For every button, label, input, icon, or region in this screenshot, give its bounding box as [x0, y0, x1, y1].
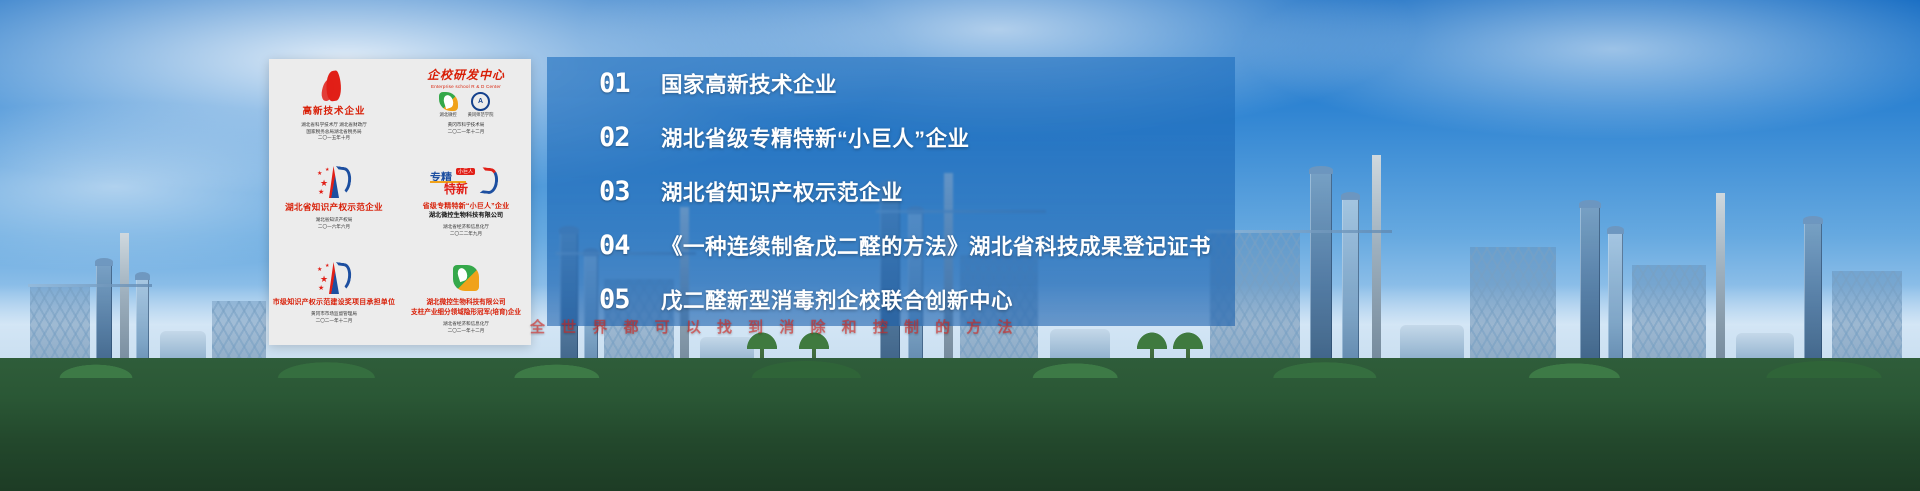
achievement-label: 湖北省级专精特新“小巨人”企业: [661, 122, 970, 153]
certificate-footer: 湖北省知识产权局 二〇一六年六月: [316, 217, 353, 230]
leaf-icon: [439, 92, 458, 111]
certificate-issuer-line: 湖北省经济和信息化厅: [443, 321, 489, 328]
certificate-grid: 高新技术企业 湖北省科学技术厅 湖北省财政厅 国家税务总局湖北省税务局 二〇一五…: [269, 59, 531, 345]
certificate-date: 二〇一六年六月: [316, 224, 353, 231]
promo-banner: 高新技术企业 湖北省科学技术厅 湖北省财政厅 国家税务总局湖北省税务局 二〇一五…: [0, 0, 1920, 491]
leaf-icon: [453, 258, 479, 298]
certificate-card[interactable]: ★★ ★★ 湖北省知识产权示范企业 湖北省知识产权局 二〇一六年六月: [269, 155, 399, 249]
certificate-subtitle: 湖北微控生物科技有限公司: [429, 212, 503, 220]
certificate-issuer-line: 湖北省科学技术厅 湖北省财政厅: [301, 122, 367, 129]
partner-logo-caption: 湖北微控: [440, 112, 457, 118]
rd-center-title: 企校研发中心: [427, 66, 505, 83]
achievement-label: 戊二醛新型消毒剂企校联合创新中心: [661, 284, 1013, 315]
certificate-issuer-line: 黄冈市科学技术局: [448, 122, 485, 129]
partner-logo-caption: 黄冈师范学院: [468, 112, 494, 118]
certificate-subtitle: 支柱产业细分领域隐形冠军(培育)企业: [411, 309, 521, 318]
partner-logos: 湖北微控 A 黄冈师范学院: [439, 92, 494, 118]
certificate-card[interactable]: 湖北微控生物科技有限公司 支柱产业细分领域隐形冠军(培育)企业 湖北省经济和信息…: [401, 251, 531, 345]
certificate-date: 二〇二二年九月: [443, 231, 489, 238]
ip-sail-icon: ★★ ★★: [317, 258, 351, 298]
achievement-label: 《一种连续制备戊二醛的方法》湖北省科技成果登记证书: [661, 230, 1211, 261]
certificate-title: 省级专精特新“小巨人”企业: [423, 203, 510, 211]
certificate-date: 二〇二一年十二月: [448, 129, 485, 136]
certificate-footer: 黄冈市市场监督管理局 二〇二一年十二月: [311, 311, 357, 324]
certificate-title: 湖北微控生物科技有限公司: [426, 299, 505, 308]
zhuanjingtexin-icon: 专精小巨人 特新: [430, 162, 502, 202]
certificate-issuer-line: 湖北省知识产权局: [316, 217, 353, 224]
achievement-item[interactable]: 04 《一种连续制备戊二醛的方法》湖北省科技成果登记证书: [547, 218, 1235, 272]
achievement-number: 01: [599, 68, 661, 99]
achievement-label: 国家高新技术企业: [661, 68, 837, 99]
ip-sail-icon: ★★ ★★: [317, 162, 351, 202]
certificate-title: 高新技术企业: [302, 107, 365, 118]
certificate-card[interactable]: 高新技术企业 湖北省科学技术厅 湖北省财政厅 国家税务总局湖北省税务局 二〇一五…: [269, 59, 399, 153]
certificate-title: 湖北省知识产权示范企业: [285, 203, 383, 213]
certificate-issuer-line: 湖北省经济和信息化厅: [443, 224, 489, 231]
ground-greenery: [0, 358, 1920, 491]
achievement-number: 03: [599, 176, 661, 207]
marquee-text: 全 世 界 都 可 以 找 到 消 除 和 控 制 的 方 法: [530, 316, 1090, 337]
certificate-date: 二〇一五年十月: [301, 135, 367, 142]
achievement-label: 湖北省知识产权示范企业: [661, 176, 903, 207]
certificate-card[interactable]: 企校研发中心 Enterprise school R & D Center 湖北…: [401, 59, 531, 153]
flame-icon: [321, 66, 347, 106]
certificate-footer: 湖北省经济和信息化厅 二〇二二年九月: [443, 224, 489, 237]
certificate-footer: 黄冈市科学技术局 二〇二一年十二月: [448, 122, 485, 135]
achievement-number: 02: [599, 122, 661, 153]
certificate-issuer-line: 黄冈市市场监督管理局: [311, 311, 357, 318]
achievement-item[interactable]: 03 湖北省知识产权示范企业: [547, 165, 1235, 219]
certificate-footer: 湖北省经济和信息化厅 二〇二一年十二月: [443, 321, 489, 334]
certificate-card[interactable]: ★★ ★★ 市级知识产权示范建设奖项目承担单位 黄冈市市场监督管理局 二〇二一年…: [269, 251, 399, 345]
certificate-date: 二〇二一年十二月: [311, 318, 357, 325]
certificate-date: 二〇二一年十二月: [443, 328, 489, 335]
achievements-panel: 01 国家高新技术企业 02 湖北省级专精特新“小巨人”企业 03 湖北省知识产…: [547, 57, 1235, 326]
certificate-footer: 湖北省科学技术厅 湖北省财政厅 国家税务总局湖北省税务局 二〇一五年十月: [301, 122, 367, 142]
certificate-title: 市级知识产权示范建设奖项目承担单位: [273, 299, 395, 307]
rd-center-title-en: Enterprise school R & D Center: [431, 84, 501, 89]
achievement-item[interactable]: 01 国家高新技术企业: [547, 57, 1235, 111]
achievement-item[interactable]: 02 湖北省级专精特新“小巨人”企业: [547, 111, 1235, 165]
certificate-card[interactable]: 专精小巨人 特新 省级专精特新“小巨人”企业 湖北微控生物科技有限公司 湖北省经…: [401, 155, 531, 249]
university-seal-icon: A: [471, 92, 490, 111]
achievement-number: 04: [599, 230, 661, 261]
achievement-number: 05: [599, 284, 661, 315]
